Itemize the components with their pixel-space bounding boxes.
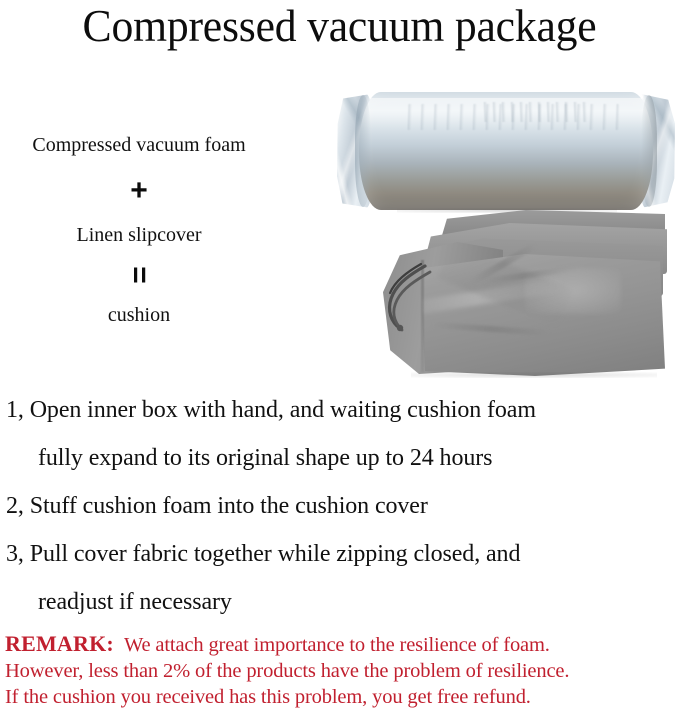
compressed-foam-roll xyxy=(359,92,653,210)
step-3-line-1: 3, Pull cover fabric together while zipp… xyxy=(6,530,674,578)
formula-item-slipcover: Linen slipcover xyxy=(4,222,274,248)
remark-block: REMARK:We attach great importance to the… xyxy=(5,631,677,710)
page-title: Compressed vacuum package xyxy=(10,0,669,54)
cover-drop-shadow xyxy=(411,372,657,378)
film-crinkle-streaks-secondary xyxy=(479,102,589,122)
equals-icon: = xyxy=(4,260,274,290)
remark-line-3: If the cushion you received has this pro… xyxy=(5,684,677,710)
roll-end-shading-right xyxy=(641,95,657,207)
remark-label: REMARK: xyxy=(5,631,114,656)
formula-result-cushion: cushion xyxy=(4,302,274,328)
fabric-highlight xyxy=(525,268,621,314)
roll-end-shading-left xyxy=(355,95,371,207)
step-2-line-1: 2, Stuff cushion foam into the cushion c… xyxy=(6,482,674,530)
instruction-steps: 1, Open inner box with hand, and waiting… xyxy=(6,386,674,626)
composition-formula: Compressed vacuum foam + Linen slipcover… xyxy=(4,132,274,328)
remark-line-1: REMARK:We attach great importance to the… xyxy=(5,631,677,658)
photo-cushion-cover xyxy=(375,208,675,378)
formula-item-foam: Compressed vacuum foam xyxy=(4,132,274,158)
step-3-line-2: readjust if necessary xyxy=(6,578,674,626)
remark-line-2: However, less than 2% of the products ha… xyxy=(5,658,677,684)
cord-loop-icon xyxy=(381,262,435,336)
photo-vacuum-roll xyxy=(337,92,675,210)
remark-text-1: We attach great importance to the resili… xyxy=(124,634,550,656)
plus-icon: + xyxy=(4,174,274,208)
step-1-line-1: 1, Open inner box with hand, and waiting… xyxy=(6,386,674,434)
product-instruction-card: Compressed vacuum package Compressed vac… xyxy=(0,0,679,717)
step-1-line-2: fully expand to its original shape up to… xyxy=(6,434,674,482)
